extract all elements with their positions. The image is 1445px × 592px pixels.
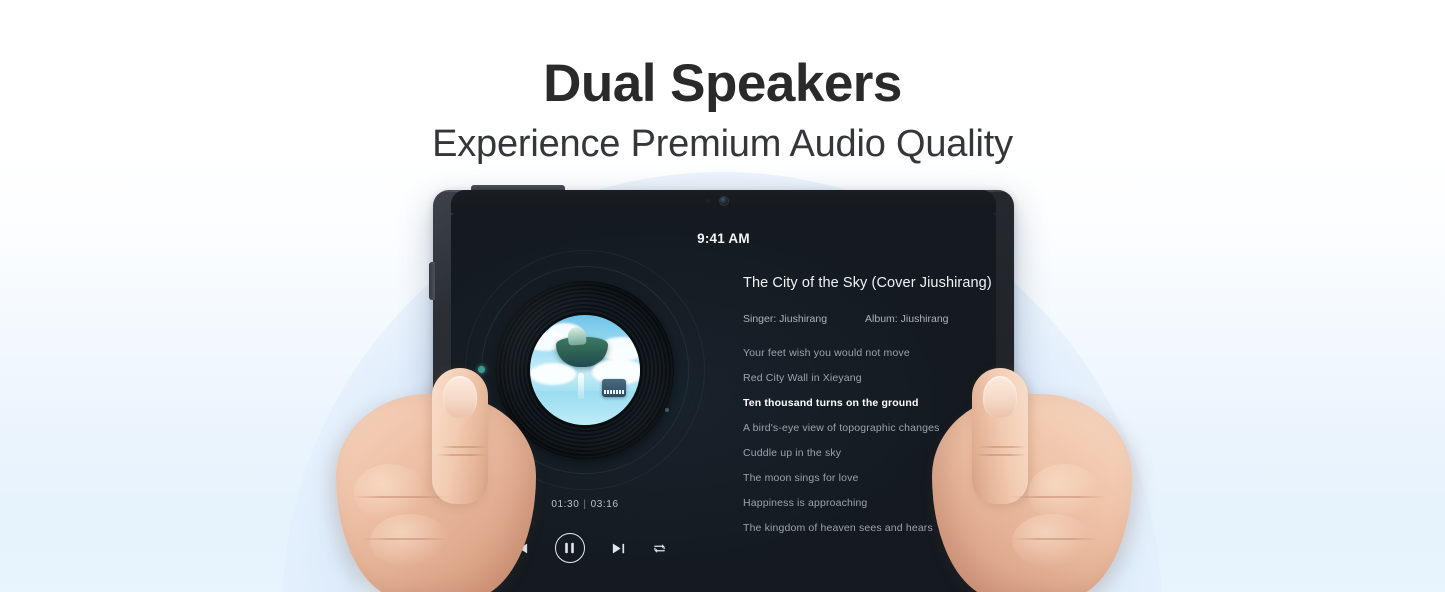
album-art-image [530, 315, 640, 425]
pause-button[interactable] [555, 533, 585, 563]
lyrics-panel[interactable]: Your feet wish you would not move Red Ci… [743, 341, 988, 541]
front-camera-icon [720, 197, 728, 205]
lyric-line-active: Ten thousand turns on the ground [743, 391, 988, 416]
time-separator: | [583, 499, 586, 510]
lyric-line: Cuddle up in the sky [743, 441, 988, 466]
tablet-device: 9:41 AM [433, 190, 1014, 592]
page-background: Dual Speakers Experience Premium Audio Q… [0, 0, 1445, 592]
header-block: Dual Speakers Experience Premium Audio Q… [0, 56, 1445, 165]
song-title: The City of the Sky (Cover Jiushirang) [743, 275, 992, 291]
lyric-line: Happiness is approaching [743, 491, 988, 516]
tablet-screen: 9:41 AM [451, 213, 996, 592]
previous-track-icon[interactable] [514, 541, 529, 556]
playback-time-row: 01:30|03:16 [465, 499, 705, 510]
album-label: Album: Jiushirang [865, 313, 948, 325]
playback-controls [465, 533, 715, 563]
lyric-line: The moon sings for love [743, 466, 988, 491]
album-vinyl-player[interactable] [465, 250, 705, 490]
repeat-icon[interactable] [652, 541, 667, 556]
lyric-line: Your feet wish you would not move [743, 341, 988, 366]
song-meta-row: Singer: Jiushirang Album: Jiushirang [743, 313, 949, 325]
lyric-line: A bird's-eye view of topographic changes [743, 416, 988, 441]
proximity-sensor-icon [706, 199, 710, 203]
volume-rocker-button[interactable] [429, 262, 435, 300]
album-art-figure [578, 373, 584, 399]
singer-label: Singer: Jiushirang [743, 313, 827, 325]
status-bar-clock: 9:41 AM [451, 231, 996, 246]
total-time: 03:16 [591, 499, 619, 510]
vinyl-marker-dot [665, 408, 669, 412]
album-art-piano [602, 379, 626, 397]
lyric-line: Red City Wall in Xieyang [743, 366, 988, 391]
album-art-peak [567, 326, 586, 345]
vinyl-progress-dot[interactable] [478, 366, 485, 373]
page-title: Dual Speakers [0, 56, 1445, 112]
next-track-icon[interactable] [611, 541, 626, 556]
elapsed-time: 01:30 [551, 499, 579, 510]
lyric-line: The kingdom of heaven sees and hears [743, 516, 988, 541]
page-subtitle: Experience Premium Audio Quality [0, 124, 1445, 166]
